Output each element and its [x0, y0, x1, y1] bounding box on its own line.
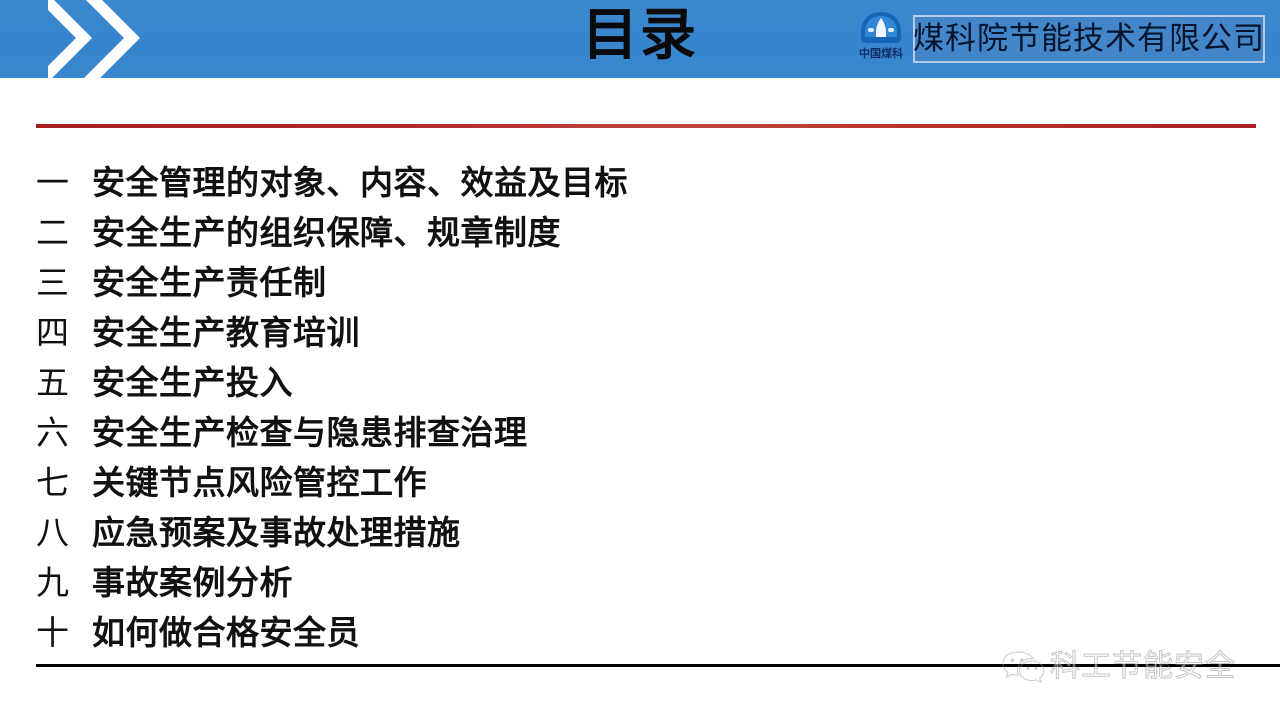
toc-item-number: 一	[36, 156, 92, 204]
toc-item-number: 八	[36, 506, 92, 554]
double-chevron-right-icon	[48, 0, 158, 78]
toc-item-number: 五	[36, 356, 92, 404]
toc-item-number: 六	[36, 406, 92, 454]
watermark: 科工节能安全	[1000, 640, 1280, 694]
toc-item-number: 七	[36, 456, 92, 504]
slide-canvas: 目录 中国煤科 煤科院节能技术有限公司 一 安全管理的对象、内容、效益及目标 二…	[0, 0, 1280, 720]
toc-item-label: 安全生产检查与隐患排查治理	[92, 406, 528, 454]
toc-item-label: 如何做合格安全员	[92, 606, 360, 654]
watermark-text: 科工节能安全	[1050, 647, 1236, 687]
zhongguo-meike-emblem-icon	[859, 10, 903, 46]
table-of-contents: 一 安全管理的对象、内容、效益及目标 二 安全生产的组织保障、规章制度 三 安全…	[36, 156, 1216, 656]
toc-item-label: 安全管理的对象、内容、效益及目标	[92, 156, 628, 204]
toc-item-number: 九	[36, 556, 92, 604]
wechat-icon	[1000, 647, 1048, 687]
toc-item[interactable]: 一 安全管理的对象、内容、效益及目标	[36, 156, 1216, 206]
toc-item[interactable]: 七 关键节点风险管控工作	[36, 456, 1216, 506]
company-name-box: 煤科院节能技术有限公司	[913, 15, 1265, 63]
toc-item-label: 应急预案及事故处理措施	[92, 506, 461, 554]
toc-item[interactable]: 九 事故案例分析	[36, 556, 1216, 606]
toc-item-number: 四	[36, 306, 92, 354]
toc-item[interactable]: 二 安全生产的组织保障、规章制度	[36, 206, 1216, 256]
toc-item-label: 事故案例分析	[92, 556, 293, 604]
toc-item-number: 二	[36, 206, 92, 254]
toc-item-label: 安全生产的组织保障、规章制度	[92, 206, 561, 254]
toc-item-number: 三	[36, 256, 92, 304]
toc-item-label: 安全生产责任制	[92, 256, 327, 304]
toc-item[interactable]: 三 安全生产责任制	[36, 256, 1216, 306]
accent-divider	[36, 124, 1256, 128]
company-name: 煤科院节能技术有限公司	[913, 19, 1265, 59]
toc-item-label: 安全生产投入	[92, 356, 293, 404]
brand-logo: 中国煤科	[849, 8, 913, 70]
toc-item-number: 十	[36, 606, 92, 654]
toc-item[interactable]: 六 安全生产检查与隐患排查治理	[36, 406, 1216, 456]
toc-item[interactable]: 四 安全生产教育培训	[36, 306, 1216, 356]
toc-item-label: 关键节点风险管控工作	[92, 456, 427, 504]
brand-logo-text: 中国煤科	[849, 47, 913, 61]
toc-item[interactable]: 八 应急预案及事故处理措施	[36, 506, 1216, 556]
toc-item[interactable]: 五 安全生产投入	[36, 356, 1216, 406]
toc-item-label: 安全生产教育培训	[92, 306, 360, 354]
